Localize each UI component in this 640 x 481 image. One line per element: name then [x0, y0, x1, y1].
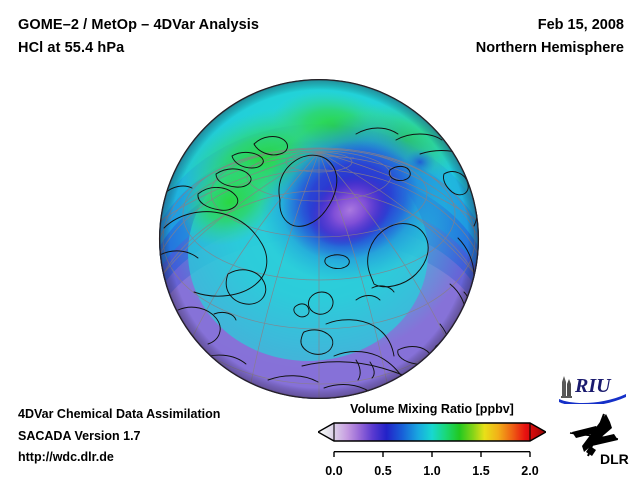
footer-credits: 4DVar Chemical Data Assimilation SACADA … — [18, 404, 220, 469]
dlr-bird-icon — [570, 414, 618, 456]
riu-logo: RIU — [558, 370, 628, 404]
colorbar-axis — [318, 451, 546, 458]
title-species-level: HCl at 55.4 hPa — [18, 37, 259, 60]
dlr-logo-text: DLR — [600, 451, 629, 467]
colorbar-title: Volume Mixing Ratio [ppbv] — [318, 402, 546, 416]
globe-svg — [158, 78, 480, 400]
riu-logo-text: RIU — [574, 375, 612, 397]
title-region: Northern Hemisphere — [476, 37, 624, 60]
credit-line-version: SACADA Version 1.7 — [18, 426, 220, 448]
limb-shading — [159, 79, 479, 399]
figure-header-right: Feb 15, 2008 Northern Hemisphere — [476, 14, 624, 60]
title-instrument: GOME–2 / MetOp – 4DVar Analysis — [18, 14, 259, 37]
figure-canvas: GOME–2 / MetOp – 4DVar Analysis HCl at 5… — [0, 0, 640, 480]
colorbar: Volume Mixing Ratio [ppbv] — [318, 402, 546, 481]
figure-header-left: GOME–2 / MetOp – 4DVar Analysis HCl at 5… — [18, 14, 259, 60]
credit-line-assimilation: 4DVar Chemical Data Assimilation — [18, 404, 220, 426]
colorbar-tick-4: 2.0 — [521, 464, 538, 478]
colorbar-swatch — [318, 421, 546, 445]
colorbar-tick-3: 1.5 — [472, 464, 489, 478]
credit-line-url[interactable]: http://wdc.dlr.de — [18, 447, 220, 469]
colorbar-tick-labels: 0.0 0.5 1.0 1.5 2.0 — [318, 464, 546, 481]
globe-map — [158, 78, 480, 400]
colorbar-ticks — [334, 452, 530, 457]
colorbar-tick-0: 0.0 — [325, 464, 342, 478]
colorbar-tick-1: 0.5 — [374, 464, 391, 478]
title-date: Feb 15, 2008 — [476, 14, 624, 37]
colorbar-tick-2: 1.0 — [423, 464, 440, 478]
dlr-logo: DLR — [566, 412, 632, 468]
